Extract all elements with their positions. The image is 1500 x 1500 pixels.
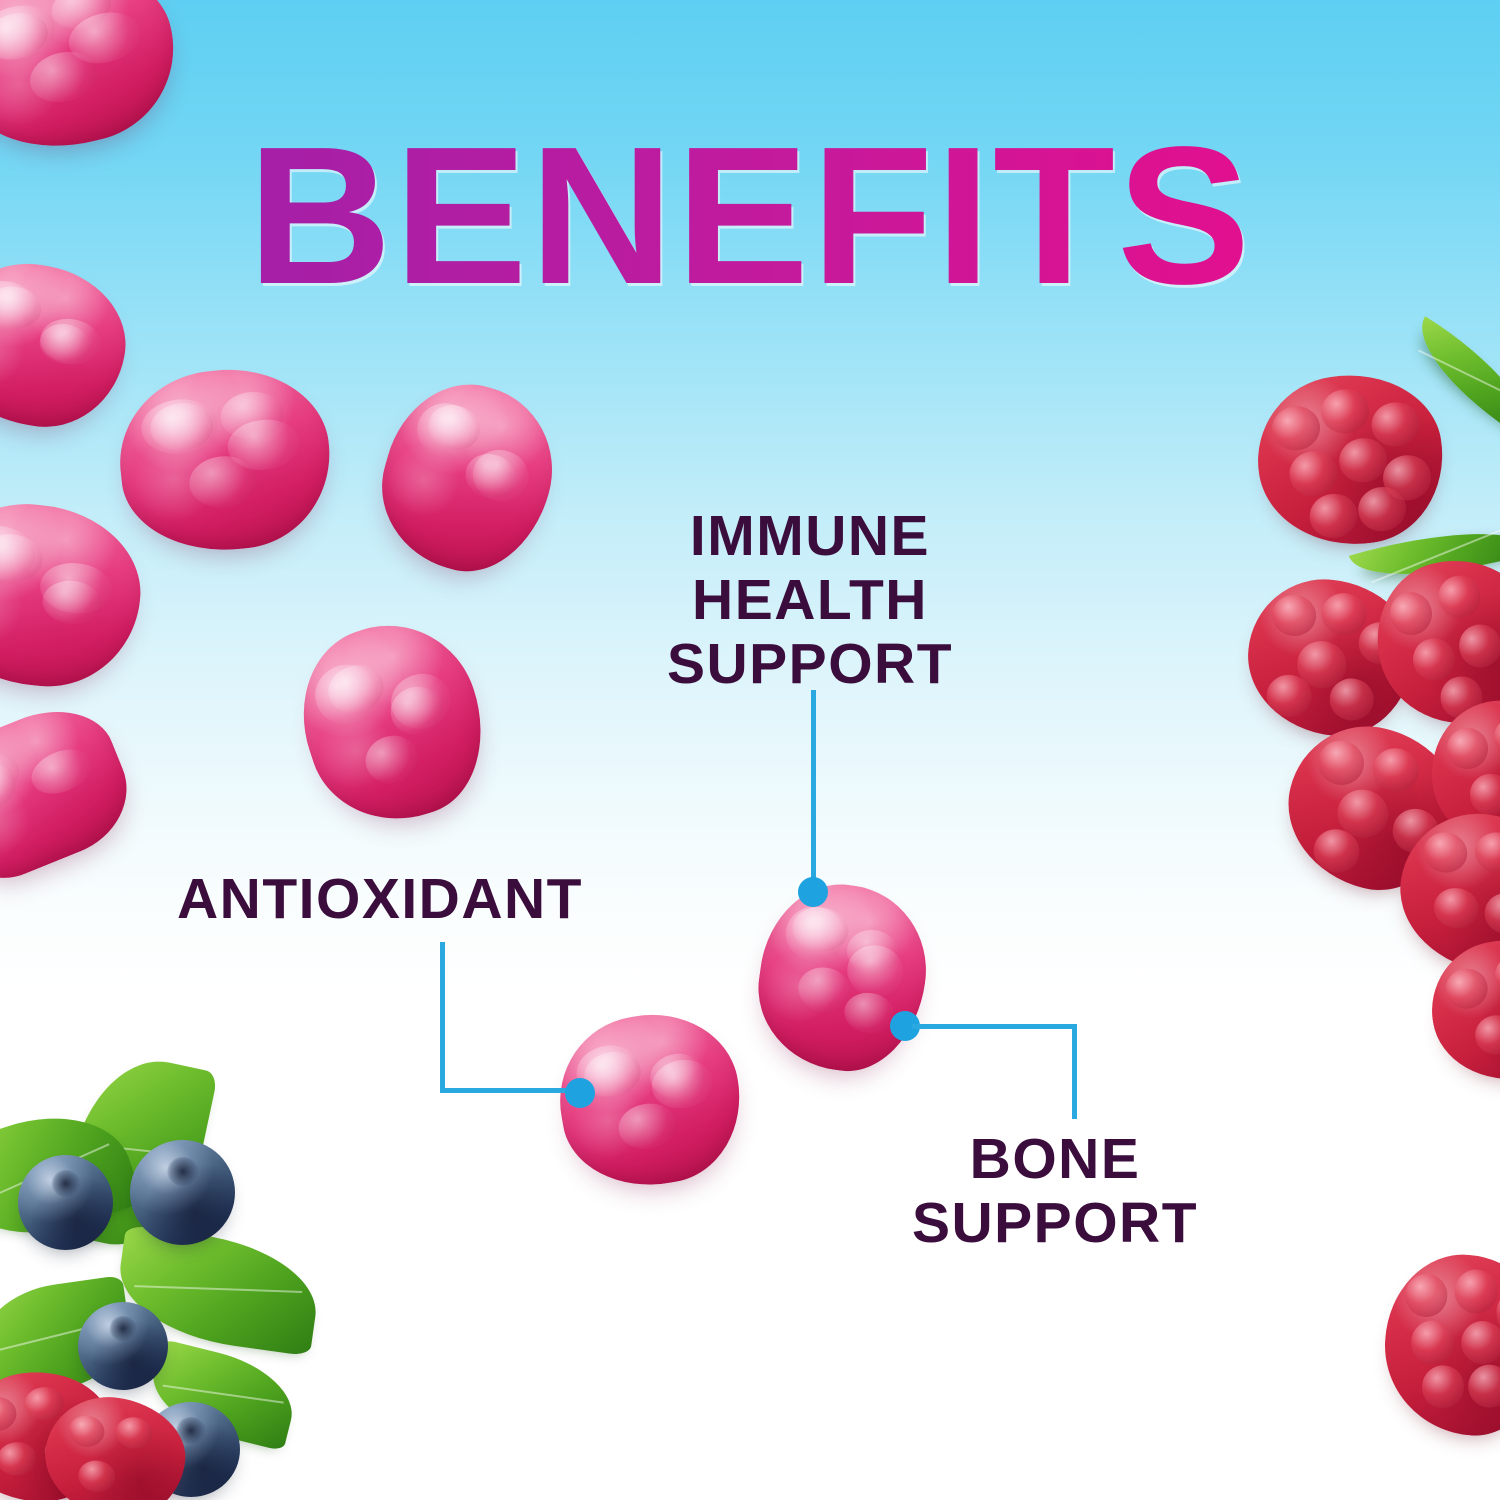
blueberry — [130, 1140, 235, 1245]
connector-line-immune — [811, 690, 816, 890]
connector-line-bone-horizontal — [912, 1024, 1077, 1029]
gummy-candy — [111, 360, 339, 561]
gummy-candy — [0, 691, 145, 895]
connector-line-antioxidant-vertical — [440, 942, 445, 1092]
infographic-canvas: BENEFITS IMMUNE HEALTH SUPPORT ANTIOXIDA… — [0, 0, 1500, 1500]
raspberry — [1379, 1249, 1500, 1440]
benefit-label-bone: BONE SUPPORT — [820, 1128, 1290, 1256]
gummy-candy — [363, 366, 573, 589]
gummy-candy — [0, 495, 149, 696]
connector-line-bone-vertical — [1072, 1024, 1077, 1119]
raspberry — [1247, 363, 1454, 557]
gummy-candy — [279, 603, 506, 843]
connector-dot-antioxidant — [565, 1078, 595, 1108]
gummy-candy-center — [748, 874, 937, 1080]
page-title: BENEFITS — [0, 118, 1500, 314]
benefit-label-antioxidant: ANTIOXIDANT — [60, 868, 700, 932]
benefit-label-immune: IMMUNE HEALTH SUPPORT — [600, 505, 1020, 696]
connector-line-antioxidant-horizontal — [440, 1088, 585, 1093]
blueberry — [18, 1155, 113, 1250]
raspberry — [1421, 928, 1500, 1092]
connector-dot-immune — [798, 877, 828, 907]
blueberry — [78, 1302, 168, 1390]
